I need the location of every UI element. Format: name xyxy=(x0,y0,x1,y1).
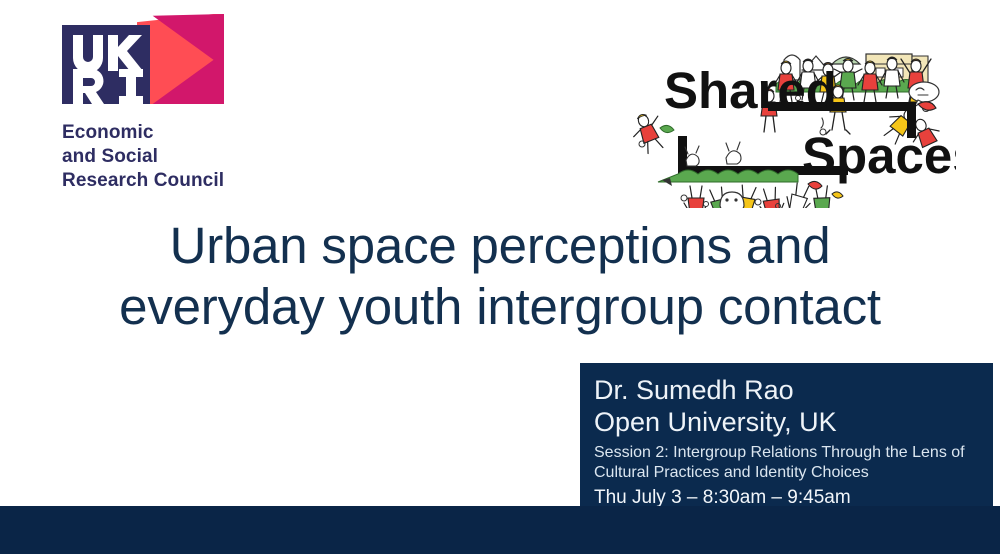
bottom-accent-bar xyxy=(0,506,1000,554)
esrc-council-name: Economic and Social Research Council xyxy=(62,121,312,193)
presentation-slide: Economic and Social Research Council xyxy=(0,0,1000,554)
shared-spaces-logo: Shared xyxy=(626,8,956,208)
speaker-name: Dr. Sumedh Rao xyxy=(594,375,993,407)
speaker-info-panel: Dr. Sumedh Rao Open University, UK Sessi… xyxy=(580,363,993,506)
shared-spaces-illustration: Shared xyxy=(626,8,956,208)
session-title: Session 2: Intergroup Relations Through … xyxy=(594,443,993,484)
page-title: Urban space perceptions and everyday you… xyxy=(0,216,1000,337)
speaker-organisation: Open University, UK xyxy=(594,407,993,439)
ukri-wordmark xyxy=(62,25,150,104)
shared-spaces-word-spaces: Spaces xyxy=(802,127,956,184)
ukri-logo-mark xyxy=(62,14,224,104)
shared-spaces-word-shared: Shared xyxy=(664,62,837,119)
ukri-chevron-block xyxy=(137,14,224,104)
ukri-esrc-logo: Economic and Social Research Council xyxy=(62,14,312,194)
